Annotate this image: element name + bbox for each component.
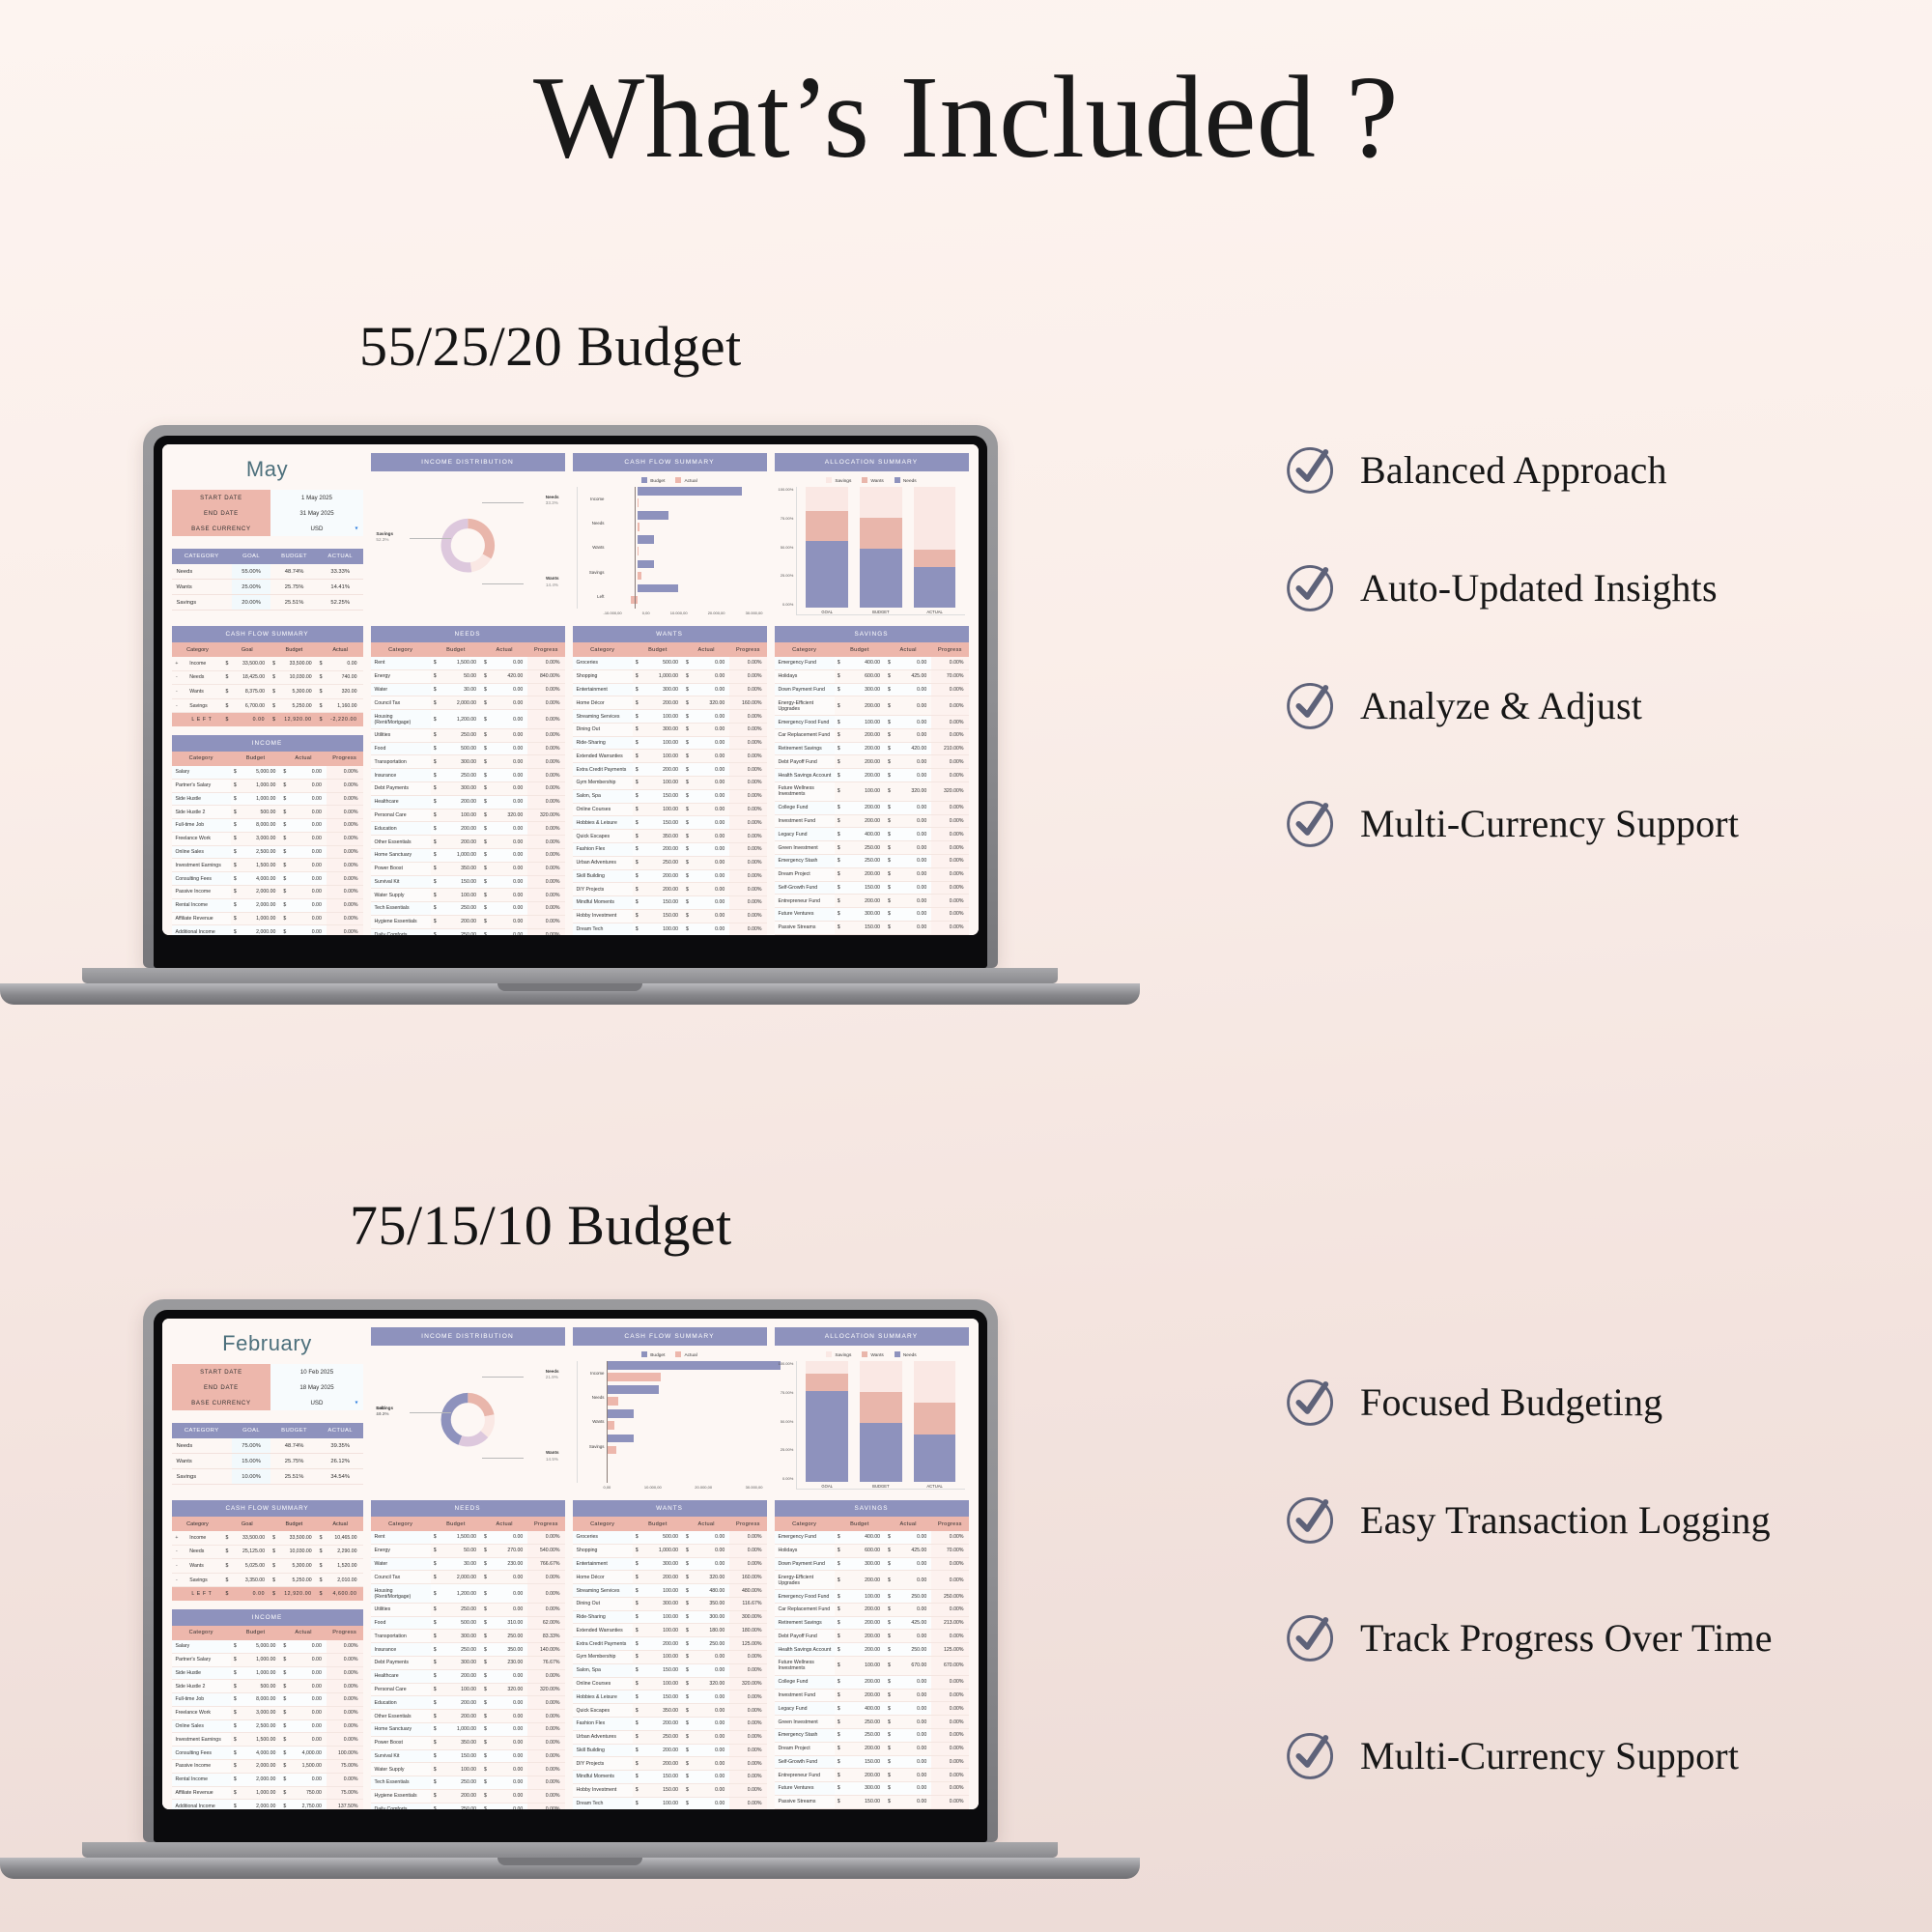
cell-progress: 0.00%	[729, 1717, 766, 1730]
cell-progress: 0.00%	[729, 1757, 766, 1771]
stack-segment	[860, 1361, 901, 1392]
meta-value[interactable]: USD▾	[270, 1395, 362, 1410]
cell-progress: 0.00%	[327, 1666, 363, 1680]
meta-value: 18 May 2025	[270, 1379, 362, 1395]
column-header: Budget	[270, 1517, 318, 1531]
table-row: Entrepreneur Fund $ 200.00 $ 0.00 0.00%	[775, 1769, 969, 1782]
table-row: Future Ventures $ 300.00 $ 0.00 0.00%	[775, 908, 969, 922]
cell-category: Hobby Investment	[573, 1783, 633, 1797]
cell-currency: $	[683, 1584, 693, 1598]
feature-label: Analyze & Adjust	[1360, 683, 1642, 728]
cell-currency: $	[633, 1677, 642, 1690]
column-header: CATEGORY	[172, 549, 232, 564]
wants-table: Category Budget Actual Progress Grocerie…	[573, 1517, 767, 1809]
cell-progress: 160.00%	[729, 1571, 766, 1584]
cell-budget: 100.00	[642, 1624, 683, 1637]
cell-budget: 200.00	[844, 1643, 885, 1657]
cell-currency: $	[231, 859, 241, 872]
cell-progress: 0.00%	[931, 1603, 968, 1616]
cell-currency: $	[231, 1706, 241, 1719]
feature-item[interactable]: Easy Transaction Logging	[1285, 1461, 1773, 1578]
cell-actual: 0.00	[693, 1531, 729, 1544]
cell-category: Salary	[172, 1640, 231, 1653]
table-row: Dream Tech $ 100.00 $ 0.00 0.00%	[573, 923, 767, 935]
cell-category: Self-Growth Fund	[775, 1755, 835, 1769]
cell-currency: $	[431, 1557, 440, 1571]
cell-budget: 200.00	[642, 1637, 683, 1651]
meta-value[interactable]: USD▾	[270, 521, 362, 536]
category-blocks: NEEDS Category Budget Actual Progress Re…	[371, 1500, 969, 1809]
table-row: Online Sales $ 2,500.00 $ 0.00 0.00%	[172, 1719, 363, 1733]
cell-category: Hobbies & Leisure	[573, 816, 633, 830]
table-row: Hygiene Essentials $ 200.00 $ 0.00 0.00%	[371, 915, 565, 928]
cell-category: Energy-Efficient Upgrades	[775, 696, 835, 716]
feature-label: Focused Budgeting	[1360, 1379, 1662, 1425]
cell-currency: $	[481, 696, 491, 710]
cell-currency: $	[431, 1763, 440, 1776]
cell-progress: 0.00%	[729, 750, 766, 763]
cell-progress: 0.00%	[931, 1769, 968, 1782]
cell-progress: 0.00%	[527, 782, 564, 796]
cell-category: Home Sanctuary	[371, 848, 431, 862]
feature-item[interactable]: Balanced Approach	[1285, 411, 1739, 528]
bar-plot-area: Income Needs Wants Savings	[577, 1361, 763, 1483]
table-row: Down Payment Fund $ 300.00 $ 0.00 0.00%	[775, 1557, 969, 1571]
cell-category: Rental Income	[172, 898, 231, 912]
cell-actual: 0.00	[895, 1742, 931, 1755]
cell-progress: 0.00%	[931, 801, 968, 814]
cell-currency: $	[683, 842, 693, 856]
table-row: DIY Projects $ 200.00 $ 0.00 0.00%	[573, 1757, 767, 1771]
cell-budget: 200.00	[642, 883, 683, 896]
cell-budget: 1,500.00	[241, 859, 281, 872]
table-row: Full-time Job $ 8,000.00 $ 0.00 0.00%	[172, 819, 363, 833]
cell-actual: 230.00	[491, 1557, 527, 1571]
cell-progress: 0.00%	[729, 1544, 766, 1557]
cell-currency: $	[683, 777, 693, 790]
cell-currency: $	[481, 848, 491, 862]
bar-group: Income	[607, 1361, 763, 1385]
cell-actual: 0.00	[290, 1640, 327, 1653]
check-circle-icon	[1285, 443, 1337, 496]
column-header: Actual	[318, 1517, 363, 1531]
chart-legend: SavingsWantsNeeds	[779, 1350, 965, 1358]
cell-actual: 0.00	[491, 915, 527, 928]
cell-progress: 0.00%	[527, 1776, 564, 1790]
cell-actual: 0.00	[290, 872, 327, 886]
cell-progress: 0.00%	[729, 842, 766, 856]
table-row: Dining Out $ 300.00 $ 350.00 116.67%	[573, 1597, 767, 1610]
stack-segment	[806, 1361, 847, 1374]
cell-currency: $	[280, 886, 290, 899]
cell-category: Rent	[371, 657, 431, 669]
check-circle-icon	[1285, 1376, 1337, 1428]
table-row: Hobby Investment $ 150.00 $ 0.00 0.00%	[573, 1783, 767, 1797]
cell-category: Dining Out	[573, 1597, 633, 1610]
cell-currency: $	[431, 755, 440, 769]
cell-category: Daily Comforts	[371, 928, 431, 935]
cell-actual: 300.00	[693, 1610, 729, 1624]
cell-progress: 0.00%	[729, 830, 766, 843]
cell-budget: 250.00	[440, 928, 481, 935]
cell-actual: 0.00	[491, 696, 527, 710]
cell-currency: $	[885, 696, 895, 716]
table-row: Passive Income $ 2,000.00 $ 0.00 0.00%	[172, 886, 363, 899]
legend-entry: Actual	[675, 477, 696, 484]
table-row: Extra Credit Payments $ 200.00 $ 0.00 0.…	[573, 763, 767, 777]
cell-category: Online Courses	[573, 803, 633, 816]
cell-progress: 0.00%	[527, 657, 564, 669]
feature-item[interactable]: Track Progress Over Time	[1285, 1578, 1773, 1696]
cell-category: Food	[371, 742, 431, 755]
table-row: Holidays $ 600.00 $ 425.00 70.00%	[775, 669, 969, 683]
cell-category: Wants	[182, 1559, 223, 1574]
table-row: Partner's Salary $ 1,000.00 $ 0.00 0.00%	[172, 779, 363, 792]
cell-category: Hygiene Essentials	[371, 915, 431, 928]
cell-category: Retirement Savings	[775, 742, 835, 755]
cell-actual: 420.00	[491, 669, 527, 683]
cell-currency: $	[835, 881, 844, 895]
table-row: Side Hustle $ 1,000.00 $ 0.00 0.00%	[172, 1666, 363, 1680]
cell-currency: $	[431, 902, 440, 916]
cell-currency: $	[683, 909, 693, 923]
cell-budget: 1,000.00	[241, 1653, 281, 1666]
cell-actual: 0.00	[290, 1719, 327, 1733]
cell-currency: $	[885, 1689, 895, 1702]
table-row: Entertainment $ 300.00 $ 0.00 0.00%	[573, 683, 767, 696]
cell-budget: 100.00	[844, 782, 885, 802]
cell-progress: 0.00%	[931, 908, 968, 922]
chevron-down-icon[interactable]: ▾	[355, 526, 357, 532]
cell-progress: 480.00%	[729, 1584, 766, 1598]
cell-actual: 0.00	[327, 657, 362, 670]
cell-category: DIY Projects	[573, 1757, 633, 1771]
cell-category: Quick Escapes	[573, 830, 633, 843]
cell-actual: 0.00	[491, 1763, 527, 1776]
cell-category: Shopping	[573, 1544, 633, 1557]
cell-currency: $	[280, 832, 290, 845]
cell-progress: 0.00%	[527, 710, 564, 729]
table-row: Freelance Work $ 3,000.00 $ 0.00 0.00%	[172, 832, 363, 845]
cell-currency: $	[231, 1666, 241, 1680]
cell-actual: 0.00	[693, 803, 729, 816]
cell-progress: 75.00%	[327, 1786, 363, 1800]
table-row: Investment Earnings $ 1,500.00 $ 0.00 0.…	[172, 1733, 363, 1747]
cell-currency: $	[633, 1571, 642, 1584]
chevron-down-icon[interactable]: ▾	[355, 1400, 357, 1406]
x-tick: 20.000,00	[695, 1485, 712, 1490]
column-header: Budget	[270, 642, 318, 657]
table-row: Additional Income $ 2,000.00 $ 0.00 0.00…	[172, 925, 363, 935]
cell-currency: $	[633, 1651, 642, 1664]
cell-progress: 0.00%	[931, 1742, 968, 1755]
cell-currency: $	[633, 1744, 642, 1757]
donut-chart	[423, 481, 513, 610]
allocation-targets-table: CATEGORYGOALBUDGETACTUAL Needs 75.00% 48…	[172, 1423, 363, 1485]
cell-category: Emergency Stash	[775, 1728, 835, 1742]
table-row: Full-time Job $ 8,000.00 $ 0.00 0.00%	[172, 1693, 363, 1707]
cell-actual: 0.00	[895, 1571, 931, 1590]
cell-category: Partner's Salary	[172, 779, 231, 792]
cell-budget: 250.00	[844, 841, 885, 855]
cell-category: Full-time Job	[172, 1693, 231, 1707]
feature-item[interactable]: Focused Budgeting	[1285, 1343, 1773, 1461]
cell-currency: $	[835, 1616, 844, 1630]
cell-category: Skill Building	[573, 869, 633, 883]
cell-currency: $	[223, 1573, 234, 1587]
cell-progress: 70.00%	[931, 669, 968, 683]
cell-currency: $	[270, 670, 281, 685]
cell-currency: $	[481, 1789, 491, 1803]
cell-actual: 320.00	[895, 782, 931, 802]
cell-progress: 0.00%	[527, 769, 564, 782]
cell-category: Full-time Job	[172, 819, 231, 833]
cell-budget: 350.00	[642, 830, 683, 843]
cell-currency: $	[481, 1544, 491, 1557]
table-row: Gym Membership $ 100.00 $ 0.00 0.00%	[573, 1651, 767, 1664]
cell-actual: 0.00	[693, 1704, 729, 1718]
table-row: Emergency Stash $ 250.00 $ 0.00 0.00%	[775, 854, 969, 867]
cell-currency: $	[683, 789, 693, 803]
table-row: Insurance $ 250.00 $ 350.00 140.00%	[371, 1643, 565, 1657]
cell-budget: 1,200.00	[440, 1584, 481, 1604]
cell-category: Legacy Fund	[775, 828, 835, 841]
cell-actual: 0.00	[491, 1696, 527, 1710]
cell-budget: 150.00	[440, 875, 481, 889]
cell-budget: 1,200.00	[440, 710, 481, 729]
cell-category: Online Courses	[573, 1677, 633, 1690]
cell-currency: $	[835, 742, 844, 755]
cell-currency: $	[431, 1736, 440, 1749]
cell-currency: $	[231, 792, 241, 806]
table-row: Passive Streams $ 150.00 $ 0.00 0.00%	[775, 921, 969, 934]
table-row: Green Investment $ 250.00 $ 0.00 0.00%	[775, 841, 969, 855]
cell-category: Income	[182, 657, 223, 670]
table-row: Emergency Food Fund $ 100.00 $ 0.00 0.00…	[775, 716, 969, 729]
cell-currency: $	[633, 1783, 642, 1797]
cell-budget: 500.00	[440, 1616, 481, 1630]
cell-actual: 0.00	[693, 710, 729, 724]
cell-budget: 250.00	[844, 1716, 885, 1729]
bar-group: Savings	[607, 560, 763, 584]
cell-currency: $	[280, 1706, 290, 1719]
month-title: February	[172, 1327, 363, 1364]
cell-currency: $	[683, 723, 693, 736]
cell-budget: 100.00	[440, 889, 481, 902]
table-row: Food $ 500.00 $ 310.00 62.00%	[371, 1616, 565, 1630]
cell-progress: 0.00%	[931, 1531, 968, 1544]
feature-item[interactable]: Multi-Currency Support	[1285, 764, 1739, 882]
cell-total-goal: 0.00	[234, 713, 270, 726]
cell-actual: 0.00	[491, 862, 527, 875]
cell-progress: 0.00%	[527, 862, 564, 875]
cell-category: Urban Adventures	[573, 856, 633, 869]
cell-currency: $	[231, 1733, 241, 1747]
cell-currency: $	[633, 710, 642, 724]
cell-currency: $	[481, 1763, 491, 1776]
cell-budget: 250.00	[440, 1776, 481, 1790]
cell-progress: 320.00%	[729, 1677, 766, 1690]
cell-budget: 200.00	[844, 1603, 885, 1616]
table-row: Emergency Stash $ 250.00 $ 0.00 0.00%	[775, 1728, 969, 1742]
feature-item[interactable]: Multi-Currency Support	[1285, 1696, 1773, 1814]
table-row: Rental Income $ 2,000.00 $ 0.00 0.00%	[172, 1773, 363, 1786]
cell-actual: 0.00	[895, 1808, 931, 1809]
cell-currency: $	[885, 669, 895, 683]
table-row: Retirement Savings $ 200.00 $ 425.00 213…	[775, 1616, 969, 1630]
cell-currency: $	[481, 1643, 491, 1657]
cell-progress: 125.00%	[729, 1637, 766, 1651]
cell-budget: 150.00	[642, 909, 683, 923]
cell-category: Water Supply	[371, 1763, 431, 1776]
cell-currency: $	[885, 1531, 895, 1544]
pie-callout: Needs 33.3%	[546, 495, 559, 506]
laptop-bezel: February START DATE 10 Feb 2025 END DATE…	[154, 1310, 987, 1842]
bar-category-label: Income	[579, 1371, 605, 1376]
cell-budget: 1,000.00	[241, 912, 281, 925]
cell-budget: 600.00	[844, 1544, 885, 1557]
column-header: Category	[573, 642, 633, 657]
cell-category: Debt Payoff Fund	[775, 1630, 835, 1643]
cell-actual: 0.00	[693, 789, 729, 803]
column-header: Actual	[481, 1517, 527, 1531]
cell-currency: $	[633, 842, 642, 856]
cell-currency: $	[280, 925, 290, 935]
cell-actual: 0.00	[693, 1690, 729, 1704]
cell-category: Entrepreneur Fund	[775, 895, 835, 908]
cell-category: Dream Project	[775, 867, 835, 881]
cell-progress: 0.00%	[931, 934, 968, 935]
cell-currency: $	[835, 908, 844, 922]
column-header: Budget	[231, 752, 280, 766]
cell-actual: 0.00	[895, 1702, 931, 1716]
cell-progress: 0.00%	[729, 1557, 766, 1571]
table-row: Entrepreneur Fund $ 200.00 $ 0.00 0.00%	[775, 895, 969, 908]
table-row: + Income $ 33,500.00 $ 33,500.00 $ 10,46…	[172, 1531, 363, 1545]
cell-actual: 0.00	[895, 1603, 931, 1616]
table-row: Self-Growth Fund $ 150.00 $ 0.00 0.00%	[775, 1755, 969, 1769]
cell-currency: $	[280, 819, 290, 833]
bar-group: Income	[607, 487, 763, 511]
table-row: Needs 75.00% 48.74% 39.35%	[172, 1438, 363, 1454]
cell-currency: $	[835, 1643, 844, 1657]
table-row: Skill Building $ 200.00 $ 0.00 0.00%	[573, 869, 767, 883]
cell-progress: 0.00%	[527, 1736, 564, 1749]
cell-currency: $	[633, 777, 642, 790]
table-row: Personal Care $ 100.00 $ 320.00 320.00%	[371, 1683, 565, 1696]
cell-progress: 0.00%	[527, 755, 564, 769]
chart-legend: BudgetActual	[577, 475, 763, 484]
cell-category: Debt Payoff Fund	[775, 755, 835, 769]
cell-currency: $	[231, 898, 241, 912]
laptop-notch	[497, 983, 642, 991]
income-distribution-panel: INCOME DISTRIBUTION Needs 33.3% Wants 14…	[371, 453, 565, 619]
cell-actual: 0.00	[895, 854, 931, 867]
cell-currency: $	[885, 908, 895, 922]
table-row: Healthcare $ 200.00 $ 0.00 0.00%	[371, 1669, 565, 1683]
cell-category: Online Sales	[172, 1719, 231, 1733]
period-settings-table: START DATE 10 Feb 2025 END DATE 18 May 2…	[172, 1364, 363, 1410]
cell-category: Investment Fund	[775, 814, 835, 828]
feature-item[interactable]: Auto-Updated Insights	[1285, 528, 1739, 646]
cell-progress: 62.00%	[527, 1616, 564, 1630]
cell-currency: $	[633, 1544, 642, 1557]
cell-budget: 4,000.00	[241, 872, 281, 886]
cell-budget: 200.00	[440, 1710, 481, 1723]
pie-callout: Wants 14.5%	[546, 1450, 559, 1462]
table-row: Needs 55.00% 48.74% 33.33%	[172, 564, 363, 580]
pie-callout: Needs 21.9%	[546, 1369, 559, 1380]
cell-goal: 25.00%	[232, 580, 270, 595]
cell-actual: 39.35%	[318, 1438, 363, 1454]
cell-currency: $	[431, 822, 440, 836]
table-row: Side Hustle 2 $ 500.00 $ 0.00 0.00%	[172, 1680, 363, 1693]
table-row: Side Hustle $ 1,000.00 $ 0.00 0.00%	[172, 792, 363, 806]
cell-budget: 150.00	[844, 881, 885, 895]
pie-callout-value: 44.3%	[376, 1411, 388, 1416]
cell-progress: 0.00%	[527, 836, 564, 849]
cell-currency: $	[885, 1630, 895, 1643]
table-row: Future Ventures $ 300.00 $ 0.00 0.00%	[775, 1782, 969, 1796]
cell-category: Extended Warranties	[573, 1624, 633, 1637]
cell-currency: $	[633, 763, 642, 777]
cell-budget: 100.00	[642, 710, 683, 724]
feature-item[interactable]: Analyze & Adjust	[1285, 646, 1739, 764]
cell-currency: $	[683, 736, 693, 750]
cell-category: Streaming Services	[573, 1584, 633, 1598]
table-row: Energy $ 50.00 $ 420.00 840.00%	[371, 669, 565, 683]
savings-table: Category Budget Actual Progress Emergenc…	[775, 642, 969, 935]
table-row: Consulting Fees $ 4,000.00 $ 4,000.00 10…	[172, 1747, 363, 1760]
cell-progress: 0.00%	[729, 1704, 766, 1718]
cell-progress: 0.00%	[527, 1531, 564, 1544]
table-row: Quick Escapes $ 350.00 $ 0.00 0.00%	[573, 1704, 767, 1718]
cell-actual: 0.00	[491, 683, 527, 696]
cell-currency: $	[885, 1603, 895, 1616]
cell-currency: $	[280, 859, 290, 872]
cell-goal: 20.00%	[232, 595, 270, 611]
y-axis: 100.00%75.00%50.00%25.00%0.00%	[779, 487, 797, 615]
cell-currency: $	[633, 803, 642, 816]
column-header: Progress	[729, 1517, 766, 1531]
cell-currency: $	[280, 1786, 290, 1800]
cell-total-label: L E F T	[182, 1587, 223, 1601]
cell-actual: 0.00	[895, 1769, 931, 1782]
cell-progress: 0.00%	[729, 803, 766, 816]
legend-entry: Wants	[862, 477, 883, 484]
cell-actual: 0.00	[290, 1773, 327, 1786]
cell-actual: 0.00	[290, 1653, 327, 1666]
cell-category: Council Tax	[371, 696, 431, 710]
y-tick: 25.00%	[779, 573, 794, 578]
table-row: Wants 15.00% 25.75% 26.12%	[172, 1454, 363, 1469]
cell-currency: $	[633, 696, 642, 710]
cell-actual: 0.00	[693, 896, 729, 910]
table-row: Tech Essentials $ 250.00 $ 0.00 0.00%	[371, 1776, 565, 1790]
cell-currency: $	[280, 806, 290, 819]
cell-category: Emergency Fund	[775, 657, 835, 669]
cell-category: Debt Payments	[371, 1657, 431, 1670]
cell-actual: 0.00	[290, 845, 327, 859]
cell-actual: 0.00	[693, 750, 729, 763]
feature-label: Balanced Approach	[1360, 447, 1667, 493]
cell-actual: 0.00	[491, 875, 527, 889]
cell-currency: $	[633, 1797, 642, 1809]
cell-currency: $	[280, 1653, 290, 1666]
cell-currency: $	[835, 1590, 844, 1604]
cell-currency: $	[231, 1786, 241, 1800]
cell-budget: 200.00	[844, 769, 885, 782]
